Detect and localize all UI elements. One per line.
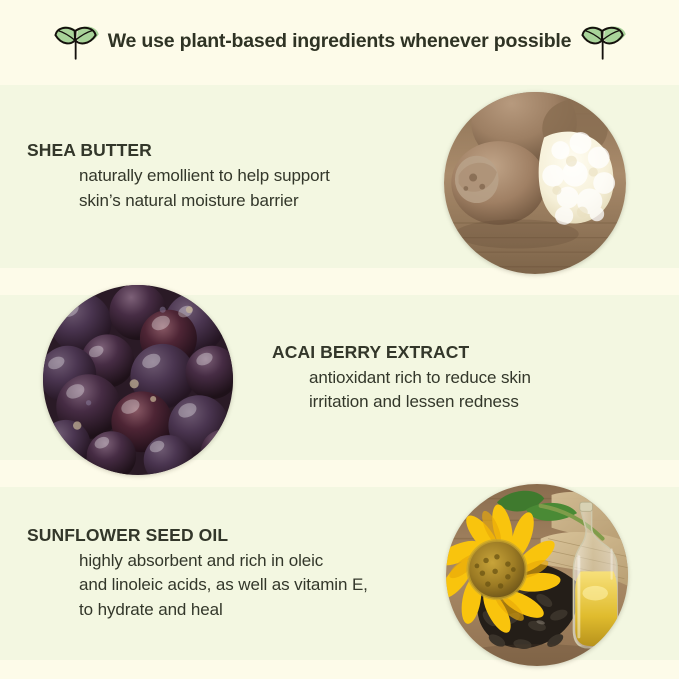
ingredient-name: ACAI BERRY EXTRACT: [272, 342, 679, 363]
sprout-leaf-icon: [48, 15, 104, 71]
ingredient-description: naturally emollient to help support skin…: [27, 164, 430, 212]
ingredient-name: SHEA BUTTER: [27, 140, 430, 161]
sunflower-seed-oil-photo: [446, 484, 628, 666]
ingredients-infographic: We use plant-based ingredients whenever …: [0, 0, 679, 679]
shea-butter-photo: [444, 92, 626, 274]
ingredient-text-shea-butter: SHEA BUTTER naturally emollient to help …: [0, 140, 430, 212]
header: We use plant-based ingredients whenever …: [0, 0, 679, 85]
sprout-leaf-icon: [575, 15, 631, 71]
ingredient-text-sunflower-seed-oil: SUNFLOWER SEED OIL highly absorbent and …: [0, 525, 430, 621]
ingredient-name: SUNFLOWER SEED OIL: [27, 525, 430, 546]
ingredient-description: antioxidant rich to reduce skin irritati…: [272, 366, 679, 414]
page-title: We use plant-based ingredients whenever …: [108, 32, 572, 54]
acai-berry-photo: [43, 285, 233, 475]
ingredient-description: highly absorbent and rich in oleic and l…: [27, 549, 430, 621]
